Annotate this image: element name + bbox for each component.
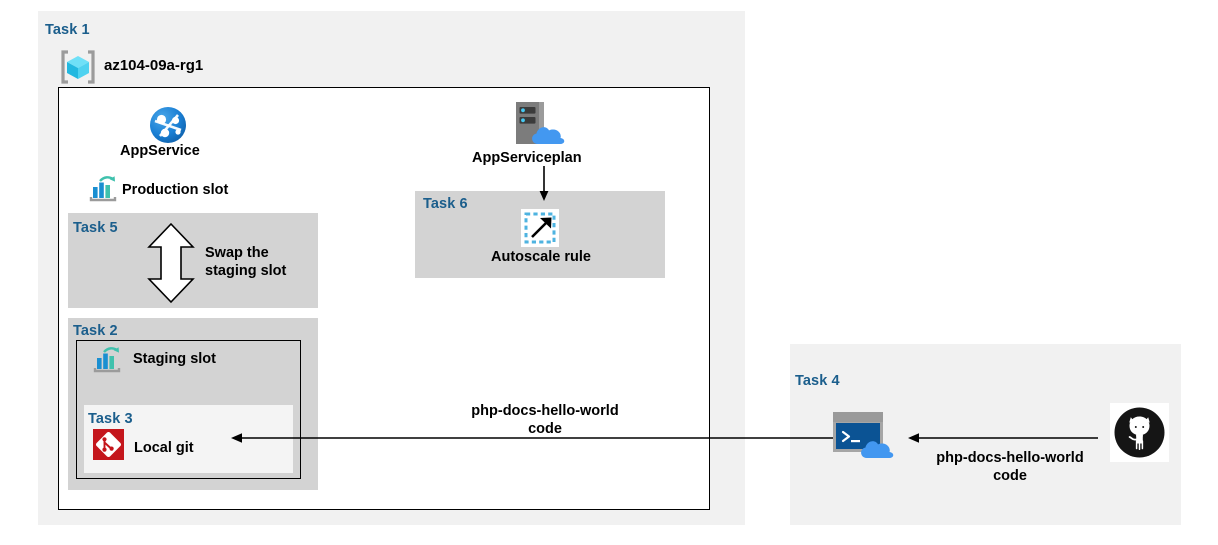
resource-group-name: az104-09a-rg1: [104, 57, 203, 75]
task2-label: Task 2: [73, 323, 118, 339]
deployment-slot-icon-production: [88, 175, 118, 203]
task4-transfer-label-line2: code: [905, 467, 1115, 485]
task1-label: Task 1: [45, 22, 90, 38]
local-git-label: Local git: [134, 439, 194, 457]
appserviceplan-label: AppServiceplan: [472, 149, 582, 167]
diagram-canvas: Task 1 az104-09a-rg1: [0, 0, 1218, 545]
task5-action-line2: staging slot: [205, 262, 286, 280]
production-slot-label: Production slot: [122, 181, 228, 199]
center-flow-label-line1: php-docs-hello-world: [440, 402, 650, 420]
task4-label: Task 4: [795, 373, 840, 389]
center-flow-label-line2: code: [440, 420, 650, 438]
staging-slot-label: Staging slot: [133, 350, 216, 368]
task3-label: Task 3: [88, 411, 133, 427]
resource-group-cube-icon: [60, 50, 96, 84]
app-service-globe-icon: [148, 105, 188, 145]
task4-transfer-label-line1: php-docs-hello-world: [905, 449, 1115, 467]
autoscale-rule-icon: [521, 209, 559, 247]
task5-label: Task 5: [73, 220, 118, 236]
git-repository-icon: [93, 429, 124, 460]
app-service-plan-icon: [512, 100, 574, 148]
task6-label: Task 6: [423, 196, 468, 212]
cloud-shell-icon: [833, 412, 899, 459]
appservice-label: AppService: [120, 142, 200, 160]
task5-action-line1: Swap the: [205, 244, 269, 262]
autoscale-rule-label: Autoscale rule: [491, 248, 591, 266]
github-octocat-icon: [1110, 403, 1169, 462]
swap-double-arrow-icon: [145, 222, 197, 304]
deployment-slot-icon-staging: [92, 346, 122, 374]
